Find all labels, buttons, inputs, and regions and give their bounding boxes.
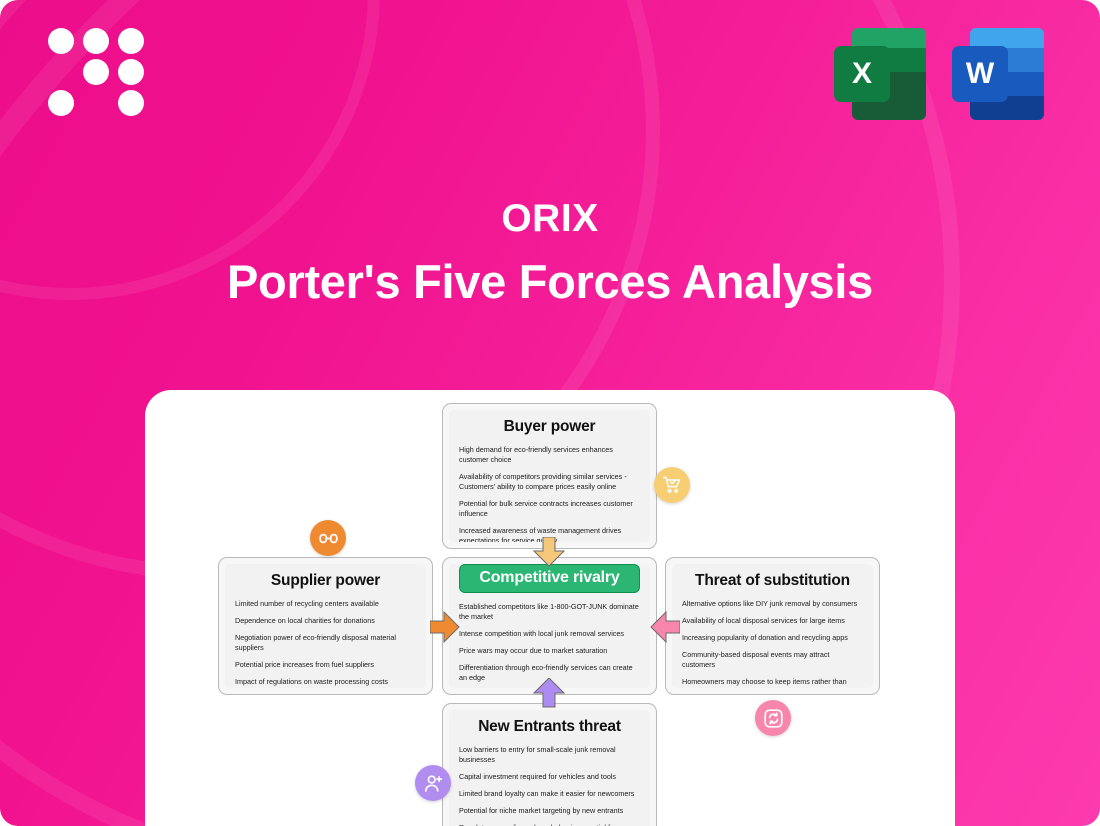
list-item: Dependence on local charities for donati…	[235, 616, 416, 626]
list-item: Price wars may occur due to market satur…	[459, 646, 640, 656]
list-item: Negotiation power of eco-friendly dispos…	[235, 633, 416, 653]
list-item: Limited number of recycling centers avai…	[235, 599, 416, 609]
list-item: Impact of regulations on waste processin…	[235, 677, 416, 687]
list-item: Increasing popularity of donation and re…	[682, 633, 863, 643]
list-item: High demand for eco-friendly services en…	[459, 445, 640, 465]
arrow-buyer-to-rivalry	[533, 537, 565, 567]
list-item: Low barriers to entry for small-scale ju…	[459, 745, 640, 765]
force-box-competitive-rivalry-title: Competitive rivalry	[459, 564, 640, 593]
force-box-buyer-power[interactable]: Buyer power High demand for eco-friendly…	[442, 403, 657, 549]
list-item: Potential for bulk service contracts inc…	[459, 499, 640, 519]
refresh-sync-icon[interactable]	[755, 700, 791, 736]
arrow-supplier-to-rivalry	[430, 611, 460, 643]
list-item: Community-based disposal events may attr…	[682, 650, 863, 670]
list-item: Potential for niche market targeting by …	[459, 806, 640, 816]
brand-name: ORIX	[0, 198, 1100, 241]
force-box-competitive-rivalry-list: Established competitors like 1-800-GOT-J…	[459, 602, 640, 688]
excel-icon[interactable]: X	[834, 28, 926, 120]
force-box-buyer-power-title: Buyer power	[459, 418, 640, 436]
list-item: Potential price increases from fuel supp…	[235, 660, 416, 670]
excel-icon-letter: X	[834, 46, 890, 102]
force-box-new-entrants-threat-title: New Entrants threat	[459, 718, 640, 736]
shopping-cart-icon[interactable]	[654, 467, 690, 503]
list-item: Intense competition with local junk remo…	[459, 629, 640, 639]
force-box-supplier-power[interactable]: Supplier power Limited number of recycli…	[218, 557, 433, 695]
arrow-entrants-to-rivalry	[533, 678, 565, 708]
slide-page: X W ORIX Porter's Five Forces Analysis B…	[0, 0, 1100, 826]
list-item: Established competitors like 1-800-GOT-J…	[459, 602, 640, 622]
force-box-supplier-power-list: Limited number of recycling centers avai…	[235, 599, 416, 687]
word-icon[interactable]: W	[952, 28, 1044, 120]
title-block: ORIX Porter's Five Forces Analysis	[0, 198, 1100, 309]
diagram-card: Buyer power High demand for eco-friendly…	[145, 390, 955, 826]
list-item: Capital investment required for vehicles…	[459, 772, 640, 782]
orix-dot-matrix-logo	[48, 28, 144, 116]
list-item: Availability of competitors providing si…	[459, 472, 640, 492]
arrow-substitution-to-rivalry	[650, 611, 680, 643]
word-icon-letter: W	[952, 46, 1008, 102]
list-item: Homeowners may choose to keep items rath…	[682, 677, 863, 688]
force-box-supplier-power-title: Supplier power	[235, 572, 416, 590]
link-chain-icon[interactable]	[310, 520, 346, 556]
list-item: Limited brand loyalty can make it easier…	[459, 789, 640, 799]
force-box-competitive-rivalry[interactable]: Competitive rivalry Established competit…	[442, 557, 657, 695]
add-user-icon[interactable]	[415, 765, 451, 801]
force-box-threat-of-substitution-list: Alternative options like DIY junk remova…	[682, 599, 863, 688]
list-item: Availability of local disposal services …	[682, 616, 863, 626]
force-box-threat-of-substitution[interactable]: Threat of substitution Alternative optio…	[665, 557, 880, 695]
page-title: Porter's Five Forces Analysis	[0, 255, 1100, 309]
app-icon-group: X W	[834, 28, 1044, 120]
force-box-threat-of-substitution-title: Threat of substitution	[682, 572, 863, 590]
list-item: Alternative options like DIY junk remova…	[682, 599, 863, 609]
force-box-new-entrants-threat-list: Low barriers to entry for small-scale ju…	[459, 745, 640, 826]
force-box-buyer-power-list: High demand for eco-friendly services en…	[459, 445, 640, 542]
force-box-new-entrants-threat[interactable]: New Entrants threat Low barriers to entr…	[442, 703, 657, 826]
diagram-canvas: Buyer power High demand for eco-friendly…	[145, 390, 955, 826]
